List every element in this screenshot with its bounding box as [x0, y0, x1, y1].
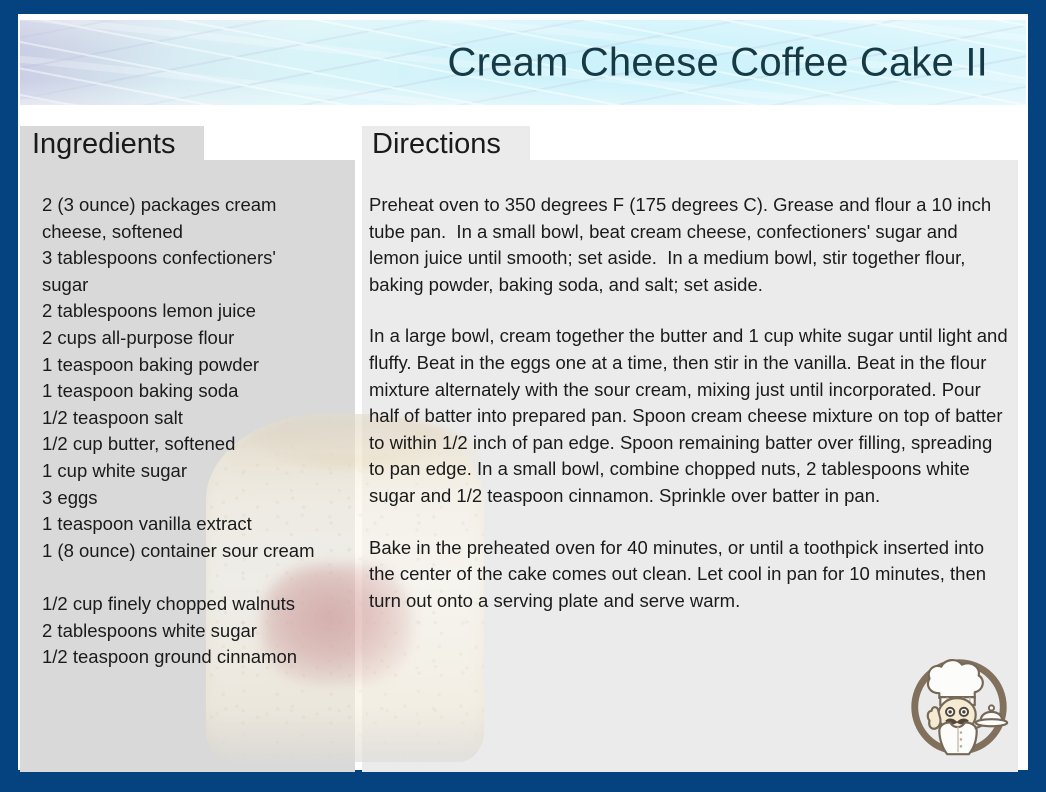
header-banner: Cream Cheese Coffee Cake II	[20, 20, 1026, 105]
frame-border-top	[0, 0, 1046, 14]
ingredient-line: cheese, softened	[42, 219, 352, 246]
ingredient-line: 1/2 cup finely chopped walnuts	[42, 591, 352, 618]
ingredient-line: sugar	[42, 272, 352, 299]
ingredient-line: 2 (3 ounce) packages cream	[42, 192, 352, 219]
ingredient-line: 1/2 teaspoon ground cinnamon	[42, 644, 352, 671]
ingredient-line: 1 teaspoon baking soda	[42, 378, 352, 405]
ingredient-line: 2 cups all-purpose flour	[42, 325, 352, 352]
ingredient-line: 3 eggs	[42, 485, 352, 512]
direction-step: Bake in the preheated oven for 40 minute…	[369, 535, 1010, 615]
directions-body: Preheat oven to 350 degrees F (175 degre…	[369, 192, 1010, 614]
direction-step: In a large bowl, cream together the butt…	[369, 323, 1010, 509]
chef-logo-icon	[900, 646, 1018, 764]
ingredient-line: 1/2 cup butter, softened	[42, 431, 352, 458]
frame-border-left	[0, 0, 18, 792]
ingredient-line: 2 tablespoons white sugar	[42, 618, 352, 645]
ingredient-line: 1 teaspoon vanilla extract	[42, 511, 352, 538]
page-title: Cream Cheese Coffee Cake II	[448, 40, 988, 85]
ingredient-line: 3 tablespoons confectioners'	[42, 245, 352, 272]
ingredient-line: 1 cup white sugar	[42, 458, 352, 485]
ingredient-line: 1 teaspoon baking powder	[42, 352, 352, 379]
ingredient-line: 2 tablespoons lemon juice	[42, 298, 352, 325]
ingredient-line: 1/2 teaspoon salt	[42, 405, 352, 432]
ingredient-line: 1 (8 ounce) container sour cream	[42, 538, 352, 565]
directions-heading-tab: Directions	[362, 126, 530, 168]
frame-border-bottom	[0, 770, 1046, 792]
ingredients-heading: Ingredients	[32, 128, 176, 161]
frame-border-right	[1028, 0, 1046, 792]
directions-heading: Directions	[372, 128, 501, 161]
ingredients-heading-tab: Ingredients	[20, 126, 204, 168]
ingredients-group-spacer	[42, 564, 352, 591]
direction-step: Preheat oven to 350 degrees F (175 degre…	[369, 192, 1010, 298]
ingredients-list: 2 (3 ounce) packages cream cheese, softe…	[42, 192, 352, 671]
recipe-card-page: Cream Cheese Coffee Cake II Ingredients …	[0, 0, 1046, 792]
